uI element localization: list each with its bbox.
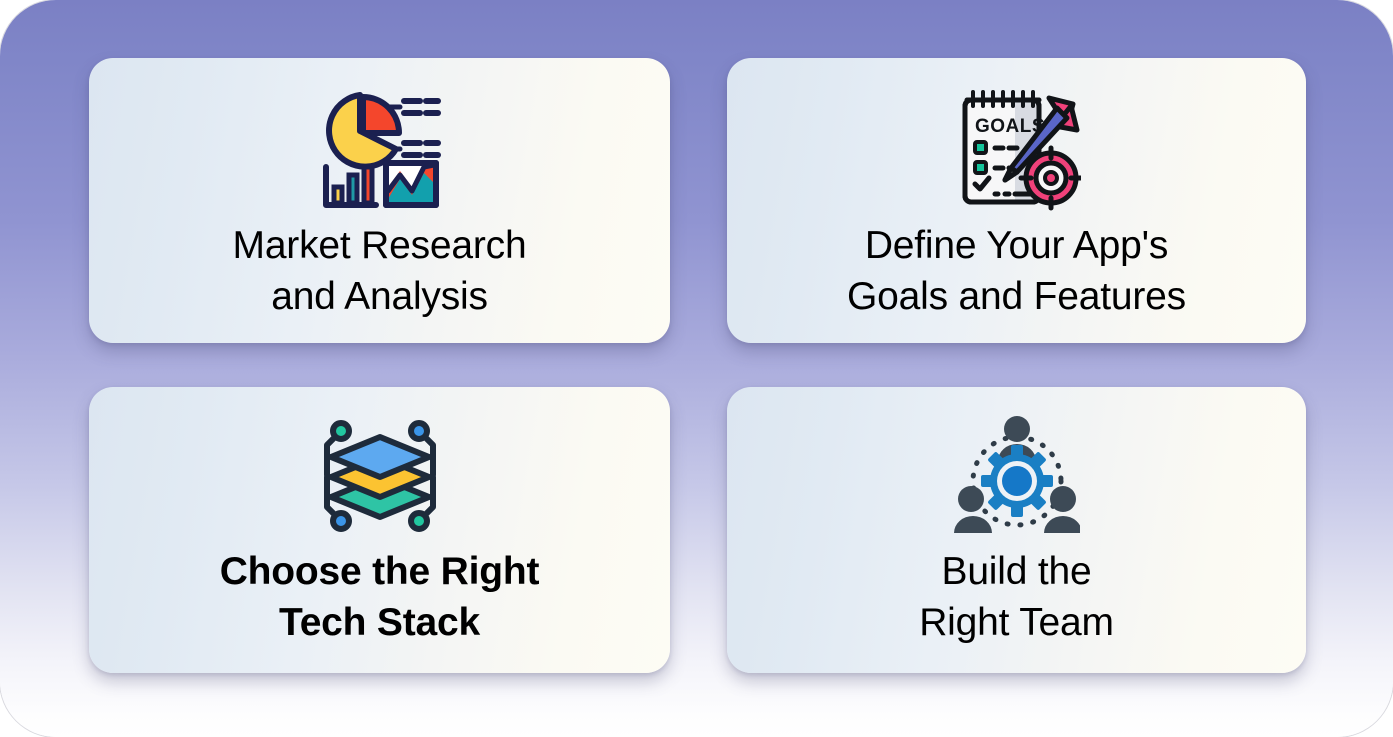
card-title: Define Your App's Goals and Features (727, 220, 1306, 322)
analytics-chart-icon (314, 86, 446, 214)
card-define-goals[interactable]: GOALS (727, 58, 1306, 343)
card-tech-stack[interactable]: Choose the Right Tech Stack (89, 387, 670, 673)
gradient-panel: Market Research and Analysis (0, 0, 1393, 737)
goals-notepad-dart-icon: GOALS (951, 86, 1083, 214)
card-build-team[interactable]: Build the Right Team (727, 387, 1306, 673)
layered-stack-circuit-icon (314, 412, 446, 540)
card-title: Build the Right Team (727, 546, 1306, 648)
infographic-stage: Market Research and Analysis (0, 0, 1393, 737)
card-grid: Market Research and Analysis (0, 0, 1393, 737)
card-title: Choose the Right Tech Stack (89, 546, 670, 648)
card-title: Market Research and Analysis (89, 220, 670, 322)
card-market-research[interactable]: Market Research and Analysis (89, 58, 670, 343)
team-gear-icon (951, 412, 1083, 540)
